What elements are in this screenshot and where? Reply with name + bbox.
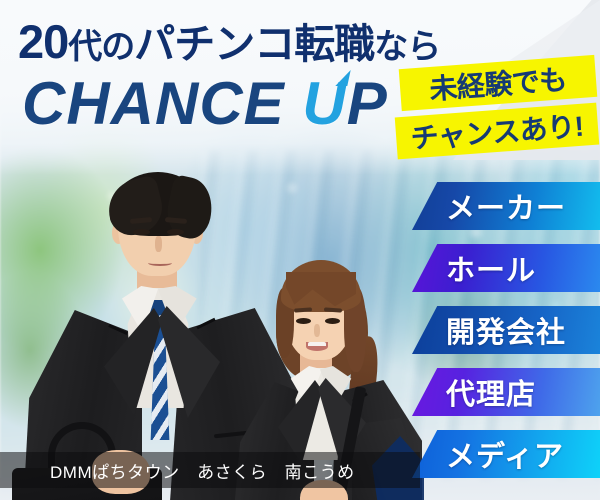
category-label-agency: 代理店 <box>446 371 536 413</box>
man-mouth <box>148 260 172 266</box>
woman-teeth <box>308 342 326 346</box>
logo-letter-p: P <box>347 70 388 137</box>
category-label-media: メディア <box>446 433 564 475</box>
business-people-photo <box>0 150 420 500</box>
headline-age-suffix: 代の <box>68 28 134 66</box>
headline-keyword: パチンコ転職 <box>134 21 374 67</box>
category-button-agency[interactable]: 代理店 <box>412 368 600 416</box>
logo-word-chance: CHANCE <box>22 70 285 137</box>
woman-nose <box>314 324 320 337</box>
credit-strip: DMMぱちタウン あさくら 南こうめ <box>0 452 420 488</box>
headline-text: 20代のパチンコ転職なら <box>18 18 440 65</box>
man-nose <box>155 236 162 252</box>
woman-eye-left <box>296 318 311 324</box>
category-label-hall: ホール <box>446 247 536 289</box>
credit-text: DMMぱちタウン あさくら 南こうめ <box>50 458 355 483</box>
chance-up-logo: CHANCE UP <box>22 74 388 134</box>
headline-tail: なら <box>374 28 440 66</box>
recruitment-banner[interactable]: 20代のパチンコ転職なら CHANCE UP 未経験でも チャンスあり! メーカ… <box>0 0 600 500</box>
category-button-hall[interactable]: ホール <box>412 244 600 292</box>
man-eye-right <box>167 229 184 235</box>
category-button-maker[interactable]: メーカー <box>412 182 600 230</box>
woman-eye-right <box>325 318 340 324</box>
headline-age: 20 <box>18 15 68 68</box>
category-label-maker: メーカー <box>446 185 566 227</box>
category-button-development-company[interactable]: 開発会社 <box>412 306 600 354</box>
logo-letter-u-arrow: U <box>302 74 346 134</box>
category-label-development-company: 開発会社 <box>446 309 566 351</box>
category-button-media[interactable]: メディア <box>412 430 600 478</box>
man-eye-left <box>133 229 150 235</box>
